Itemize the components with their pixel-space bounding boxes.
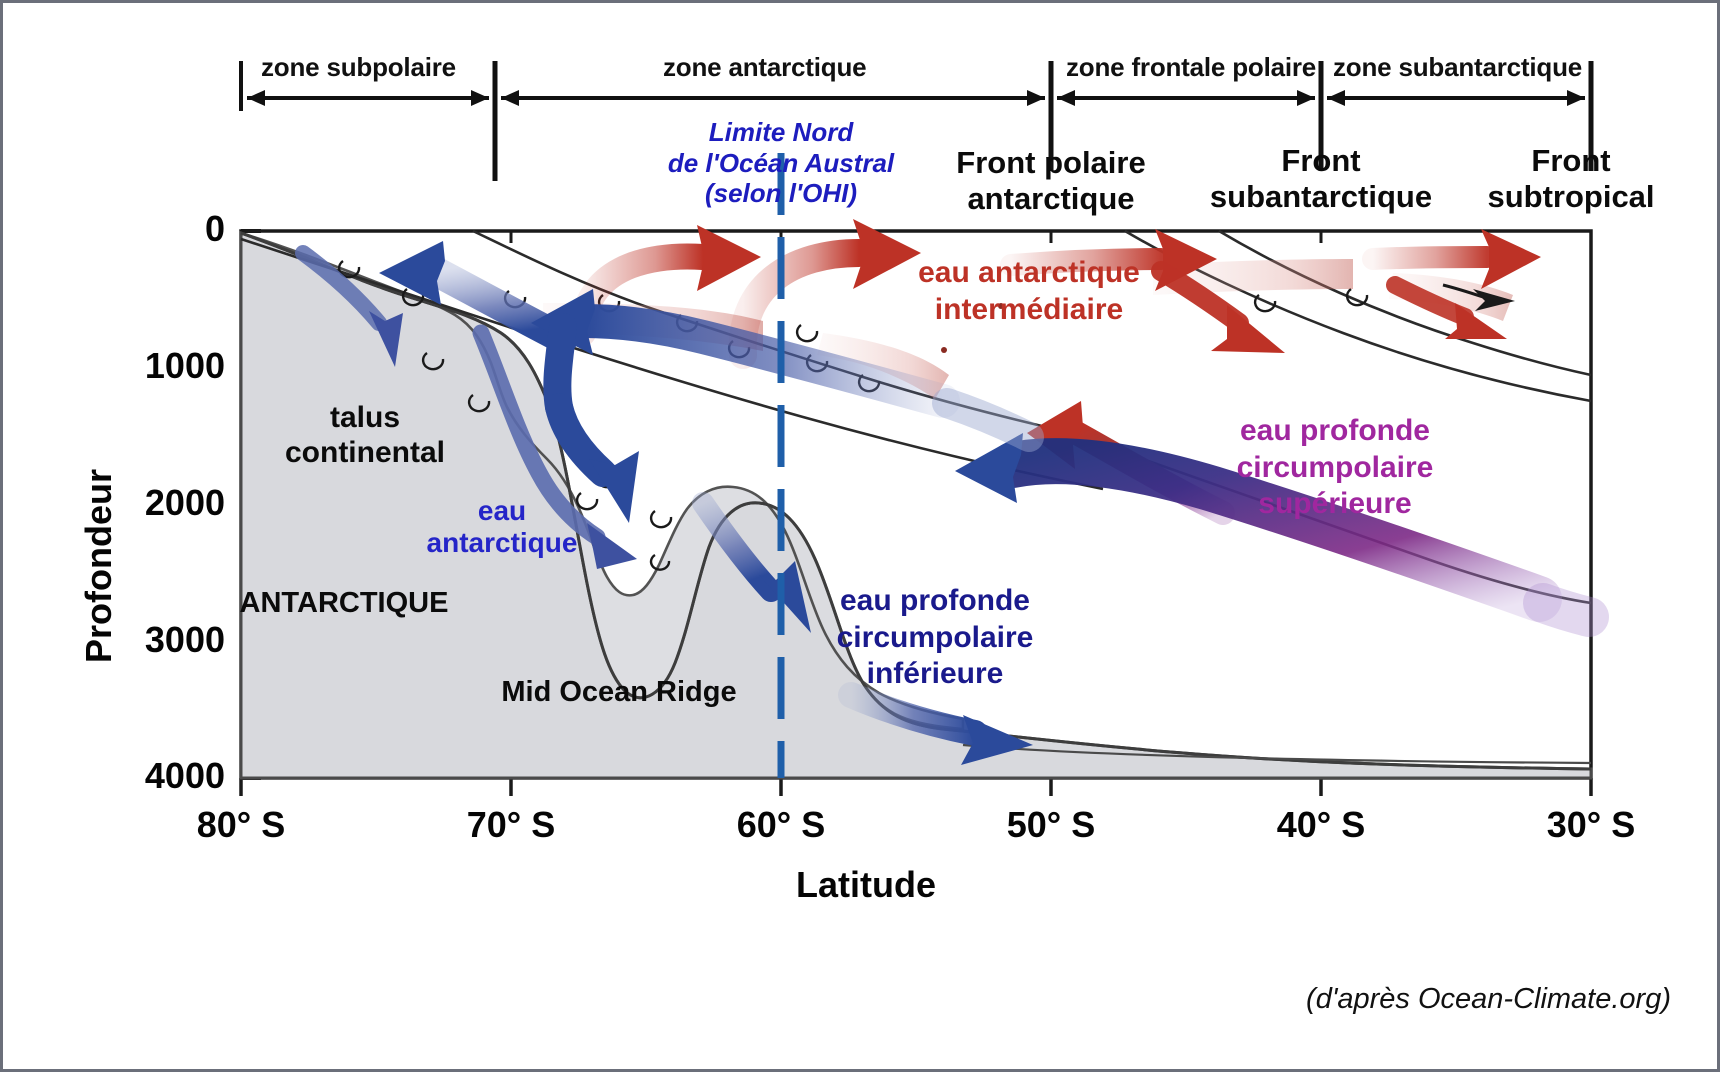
top-edge-ticks: [511, 231, 1321, 243]
water-mass-label-eau-antarctique: eau antarctique: [417, 495, 587, 559]
water-mass-label-eau-antarctique-intermediaire: eau antarctique intermédiaire: [909, 255, 1149, 328]
geo-label-talus-continental: talus continental: [255, 401, 475, 470]
y-tick-label-3000: 3000: [53, 620, 225, 660]
front-subtropical-line-1: Front: [1421, 143, 1720, 179]
ohi-line-1: Limite Nord: [591, 117, 971, 148]
y-tick-label-1000: 1000: [53, 346, 225, 386]
geo-label-mid-ocean-ridge: Mid Ocean Ridge: [499, 676, 739, 709]
x-tick-label-30S: 30° S: [1501, 805, 1681, 845]
zone-arrow-subantarctique: [1327, 90, 1585, 106]
x-axis-ticks: [241, 778, 1591, 796]
talus-line-1: talus: [255, 401, 475, 436]
x-tick-label-80S: 80° S: [151, 805, 331, 845]
lcdw-line-2: circumpolaire: [825, 620, 1045, 657]
zone-label-subantarctique: zone subantarctique: [1333, 53, 1582, 82]
x-tick-label-60S: 60° S: [691, 805, 871, 845]
zone-arrow-subpolaire: [247, 90, 489, 106]
y-tick-label-2000: 2000: [53, 483, 225, 523]
aaiw-line-2: intermédiaire: [909, 292, 1149, 329]
ucdw-line-2: circumpolaire: [1225, 450, 1445, 487]
y-tick-label-4000: 4000: [53, 756, 225, 796]
x-tick-label-40S: 40° S: [1231, 805, 1411, 845]
ucdw-line-3: supérieure: [1225, 486, 1445, 523]
aaiw-line-1: eau antarctique: [909, 255, 1149, 292]
figure-panel: zone subpolaire zone antarctique zone fr…: [0, 0, 1720, 1072]
source-credit: (d'après Ocean-Climate.org): [1021, 983, 1671, 1015]
talus-line-2: continental: [255, 436, 475, 471]
zone-label-frontale-polaire: zone frontale polaire: [1066, 53, 1316, 82]
front-label-subtropical: Front subtropical: [1421, 143, 1720, 214]
y-tick-label-0: 0: [53, 209, 225, 249]
geo-label-antarctique: ANTARCTIQUE: [229, 587, 459, 620]
lcdw-line-3: inférieure: [825, 656, 1045, 693]
zone-arrow-frontale-polaire: [1057, 90, 1315, 106]
ucdw-line-1: eau profonde: [1225, 413, 1445, 450]
front-subtropical-line-2: subtropical: [1421, 179, 1720, 215]
x-tick-label-50S: 50° S: [961, 805, 1141, 845]
x-tick-label-70S: 70° S: [421, 805, 601, 845]
eau-antarctique-line-1: eau: [417, 495, 587, 527]
zone-label-antarctique: zone antarctique: [663, 53, 866, 82]
x-axis-title: Latitude: [716, 865, 1016, 905]
water-mass-label-eau-profonde-circumpolaire-inferieure: eau profonde circumpolaire inférieure: [825, 583, 1045, 693]
zone-label-subpolaire: zone subpolaire: [261, 53, 456, 82]
water-mass-label-eau-profonde-circumpolaire-superieure: eau profonde circumpolaire supérieure: [1225, 413, 1445, 523]
eau-antarctique-line-2: antarctique: [417, 527, 587, 559]
zone-arrow-antarctique: [501, 90, 1045, 106]
lcdw-line-1: eau profonde: [825, 583, 1045, 620]
